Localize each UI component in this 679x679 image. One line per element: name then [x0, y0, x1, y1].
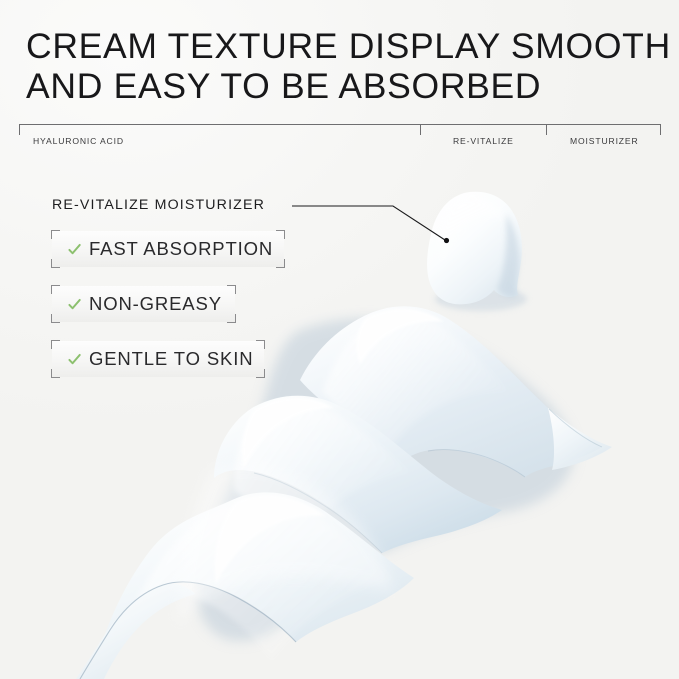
cream-dollop [427, 192, 522, 305]
divider-label-re-vitalize: RE-VITALIZE [453, 136, 514, 146]
corner-bracket-top-right [256, 340, 265, 349]
swoosh-edge-contour-2 [254, 473, 382, 553]
divider-label-hyaluronic-acid: HYALURONIC ACID [33, 136, 124, 146]
corner-bracket-top-left [51, 285, 60, 294]
divider-rule [19, 124, 661, 125]
feature-label: GENTLE TO SKIN [89, 350, 253, 369]
corner-bracket-bottom-left [51, 314, 60, 323]
feature-label: NON-GREASY [89, 295, 222, 314]
swoosh-edge-contour [80, 582, 296, 679]
swoosh-middle-crest [242, 398, 334, 468]
callout-leader-line [285, 190, 465, 255]
feature-label: FAST ABSORPTION [89, 240, 273, 259]
page-title-line-2: AND EASY TO BE ABSORBED [26, 66, 656, 106]
cream-swoosh-upper [300, 306, 602, 477]
swoosh-middle-ridge [234, 404, 414, 552]
check-icon [67, 297, 82, 312]
page-title-line-1: CREAM TEXTURE DISPLAY SMOOTH [26, 26, 656, 66]
corner-bracket-bottom-left [51, 259, 60, 268]
poster-canvas: CREAM TEXTURE DISPLAY SMOOTH AND EASY TO… [0, 0, 679, 679]
swoosh-right-tip [548, 408, 612, 470]
swoosh-edge-contour-4 [549, 409, 602, 447]
callout-leader-dot [444, 238, 449, 243]
divider-tick-end [660, 124, 661, 135]
corner-bracket-top-right [276, 230, 285, 239]
page-title: CREAM TEXTURE DISPLAY SMOOTH AND EASY TO… [26, 26, 656, 106]
divider-tick-2 [546, 124, 547, 135]
callout-label: RE-VITALIZE MOISTURIZER [52, 197, 265, 213]
divider-tick-start [19, 124, 20, 135]
swoosh-lower-crest [215, 495, 326, 584]
divider-label-moisturizer: MOISTURIZER [570, 136, 639, 146]
corner-bracket-top-left [51, 230, 60, 239]
corner-bracket-bottom-right [256, 369, 265, 378]
cream-dollop-highlight [439, 198, 507, 264]
swoosh-lower-ridge [136, 500, 398, 660]
swoosh-top-crest [357, 309, 444, 364]
ingredient-divider-bar: HYALURONIC ACID RE-VITALIZE MOISTURIZER [19, 124, 661, 146]
swoosh-tail [76, 583, 196, 679]
cream-swoosh-lower [100, 492, 414, 650]
cream-dollop-shading [497, 214, 519, 297]
swoosh-upper-ridge [322, 315, 512, 456]
corner-bracket-bottom-right [227, 314, 236, 323]
swoosh-soft-shading [178, 464, 392, 624]
corner-bracket-bottom-right [276, 259, 285, 268]
feature-box-non-greasy[interactable]: NON-GREASY [52, 286, 235, 322]
swoosh-edge-contour-3 [428, 450, 525, 477]
cream-dollop-group [427, 192, 527, 311]
feature-box-fast-absorption[interactable]: FAST ABSORPTION [52, 231, 284, 267]
check-icon [67, 242, 82, 257]
corner-bracket-top-right [227, 285, 236, 294]
corner-bracket-bottom-left [51, 369, 60, 378]
check-icon [67, 352, 82, 367]
divider-tick-1 [420, 124, 421, 135]
feature-box-gentle-to-skin[interactable]: GENTLE TO SKIN [52, 341, 264, 377]
cream-swoosh-middle [214, 396, 502, 553]
corner-bracket-top-left [51, 340, 60, 349]
